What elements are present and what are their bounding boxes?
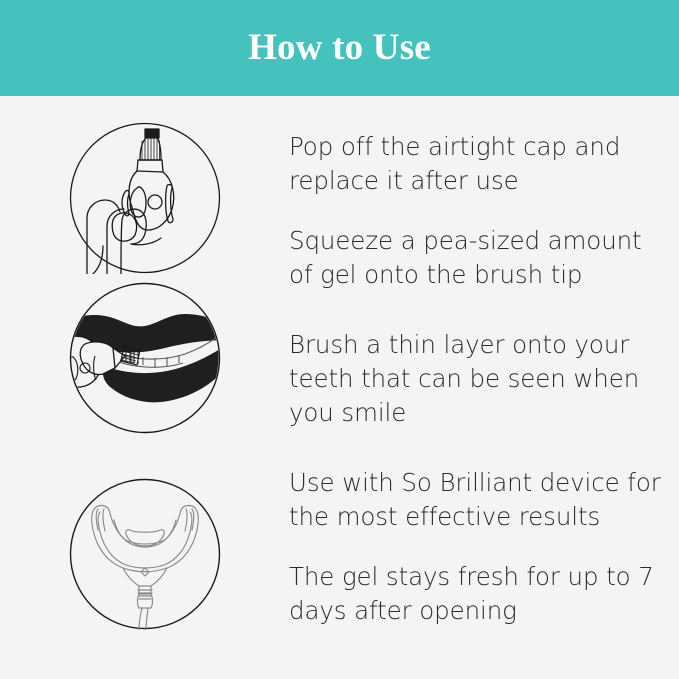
whitening-led-mouthpiece-device-icon: [69, 478, 221, 630]
header-band: How to Use: [0, 0, 679, 96]
steps-list: Pop off the airtight cap and replace it …: [289, 96, 669, 679]
content-area: Pop off the airtight cap and replace it …: [0, 96, 679, 679]
step-item: Squeeze a pea-sized amount of gel onto t…: [289, 224, 661, 292]
step-item: The gel stays fresh for up to 7 days aft…: [289, 560, 661, 628]
illustration-2: [69, 282, 221, 434]
hand-holding-gel-bottle-icon: [69, 122, 221, 274]
brush-applying-gel-to-teeth-icon: [69, 282, 221, 434]
illustration-3: [69, 478, 221, 630]
illustration-column: [0, 96, 270, 679]
step-item: Brush a thin layer onto your teeth that …: [289, 328, 661, 430]
page-title: How to Use: [248, 29, 431, 66]
illustration-1: [69, 122, 221, 274]
step-item: Use with So Brilliant device for the mos…: [289, 466, 661, 534]
how-to-use-infographic: How to Use: [0, 0, 679, 679]
step-item: Pop off the airtight cap and replace it …: [289, 130, 661, 198]
